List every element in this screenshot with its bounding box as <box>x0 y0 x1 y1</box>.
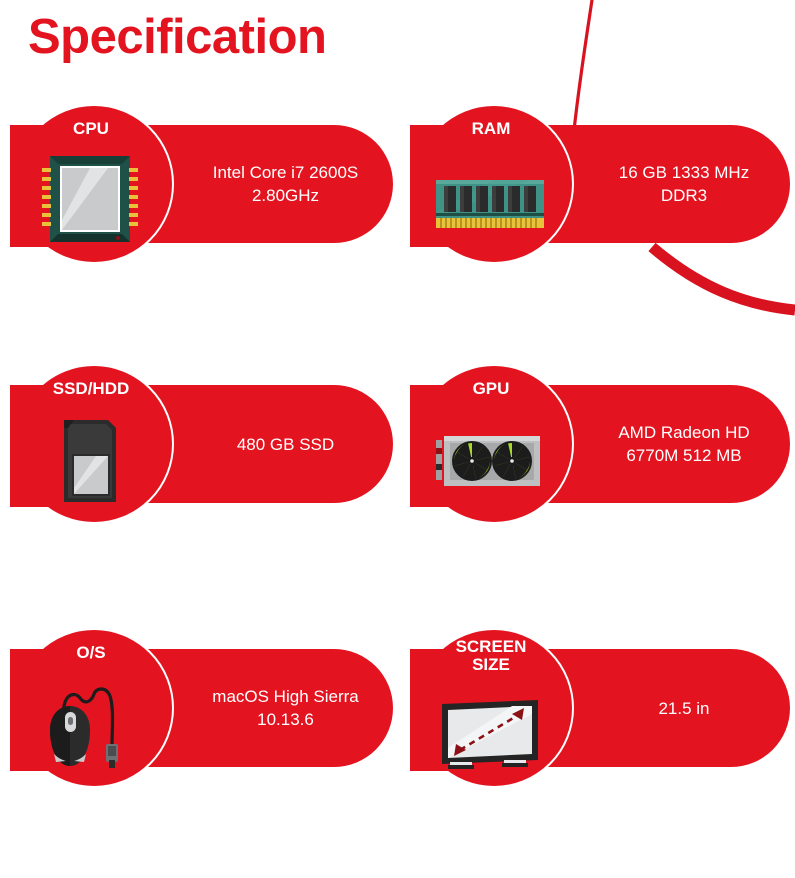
memory-card-icon <box>34 410 146 510</box>
badge-label-screen-size: SCREEN SIZE <box>416 638 566 674</box>
badge-label-gpu: GPU <box>416 380 566 398</box>
specification-infographic: Specification CPU <box>0 0 795 878</box>
spec-value-storage: 480 GB SSD <box>178 385 393 503</box>
badge-label-os: O/S <box>16 644 166 662</box>
graphics-card-icon <box>434 410 546 510</box>
spec-card-gpu[interactable]: GPU <box>428 385 790 503</box>
computer-mouse-icon <box>34 674 146 774</box>
badge-screen-size: SCREEN SIZE <box>414 628 574 788</box>
spec-value-cpu: Intel Core i7 2600S 2.80GHz <box>178 125 393 243</box>
badge-os: O/S <box>14 628 174 788</box>
spec-card-storage[interactable]: SSD/HDD 480 GB SSD <box>28 385 393 503</box>
monitor-diagonal-icon <box>434 674 546 774</box>
cpu-chip-icon <box>34 150 146 250</box>
spec-value-screen-size: 21.5 in <box>578 649 790 767</box>
spec-card-cpu[interactable]: CPU <box>28 125 393 243</box>
ram-module-icon <box>434 150 546 250</box>
badge-label-storage: SSD/HDD <box>16 380 166 398</box>
badge-gpu: GPU <box>414 364 574 524</box>
badge-ram: RAM <box>414 104 574 264</box>
spec-value-gpu: AMD Radeon HD 6770M 512 MB <box>578 385 790 503</box>
spec-value-ram: 16 GB 1333 MHz DDR3 <box>578 125 790 243</box>
spec-card-screen-size[interactable]: SCREEN SIZE <box>428 649 790 767</box>
badge-cpu: CPU <box>14 104 174 264</box>
spec-value-os: macOS High Sierra 10.13.6 <box>178 649 393 767</box>
spec-card-ram[interactable]: RAM <box>428 125 790 243</box>
badge-label-ram: RAM <box>416 120 566 138</box>
badge-label-cpu: CPU <box>16 120 166 138</box>
spec-card-grid: CPU <box>0 0 795 878</box>
spec-card-os[interactable]: O/S <box>28 649 393 767</box>
badge-storage: SSD/HDD <box>14 364 174 524</box>
